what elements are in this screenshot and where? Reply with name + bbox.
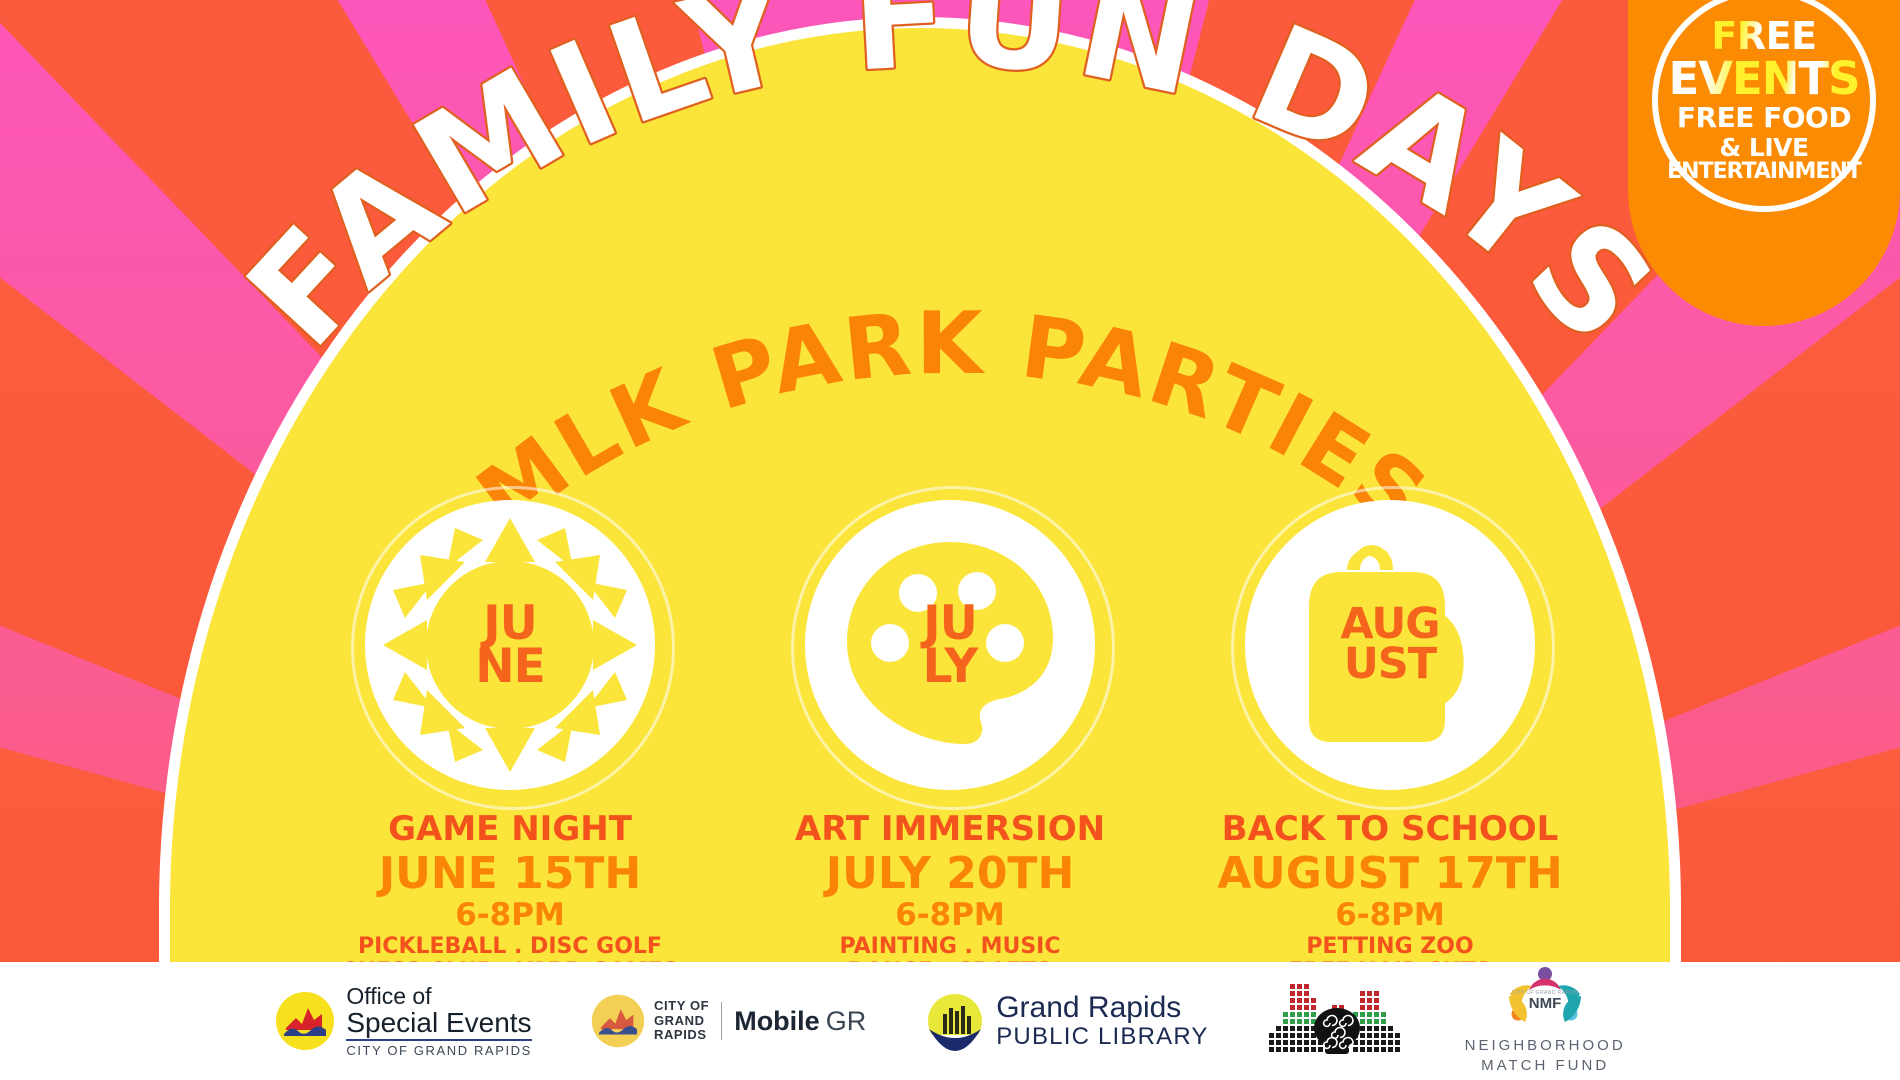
grand-rapids-sun-mark-icon xyxy=(274,990,336,1052)
sponsor-logo-strip: Office of Special Events CITY OF GRAND R… xyxy=(0,962,1900,1080)
logo-office-of-special-events: Office of Special Events CITY OF GRAND R… xyxy=(274,984,532,1058)
june-icon-circle: JU NE xyxy=(365,500,655,790)
cgr-wordmark: CITY OF GRAND RAPIDS xyxy=(654,999,709,1044)
cgr-line3: RAPIDS xyxy=(654,1028,709,1043)
free-events-badge: FREE EVENTS FREE FOOD & LIVE ENTERTAINME… xyxy=(1628,0,1900,326)
logo-grand-rapids-public-library: Grand Rapids PUBLIC LIBRARY xyxy=(924,990,1208,1052)
cgr-line1: CITY OF xyxy=(654,999,709,1014)
pixel-equalizer-afro-icon xyxy=(1267,978,1407,1064)
badge-events-label: EVENTS xyxy=(1668,56,1859,101)
nmf-people-circle-icon: CITY OF GRAND RAPIDS NMF xyxy=(1499,966,1591,1032)
july-event-title: ART IMMERSION xyxy=(795,812,1105,846)
logo-neighborhood-match-fund: CITY OF GRAND RAPIDS NMF NEIGHBORHOOD MA… xyxy=(1465,966,1626,1077)
badge-ring: FREE EVENTS FREE FOOD & LIVE ENTERTAINME… xyxy=(1652,0,1876,212)
ose-line3: CITY OF GRAND RAPIDS xyxy=(346,1043,532,1058)
ose-line2: Special Events xyxy=(346,1008,532,1040)
grpl-line2: PUBLIC LIBRARY xyxy=(996,1024,1208,1050)
nmf-mark: NMF xyxy=(1529,995,1562,1012)
logo-community-pixel-mark xyxy=(1267,978,1407,1064)
august-halo-ring xyxy=(1231,486,1555,810)
august-event-date: AUGUST 17TH xyxy=(1217,852,1562,896)
month-column-june: JU NE GAME NIGHT JUNE 15TH 6-8PM PICKLEB… xyxy=(300,500,720,1034)
badge-free-food-label: FREE FOOD xyxy=(1677,104,1851,132)
month-column-july: JU LY ART IMMERSION JULY 20TH 6-8PM PAIN… xyxy=(740,500,1160,1034)
logo-divider xyxy=(721,1002,722,1040)
june-event-title: GAME NIGHT xyxy=(388,812,632,846)
july-icon-circle: JU LY xyxy=(805,500,1095,790)
june-halo-ring xyxy=(351,486,675,810)
ose-line1: Office of xyxy=(346,984,532,1008)
cgr-line2: GRAND xyxy=(654,1014,709,1029)
mobile-gr-bold: Mobile xyxy=(734,1006,820,1037)
city-of-grand-rapids-mark-icon xyxy=(590,993,646,1049)
june-event-time: 6-8PM xyxy=(455,900,565,931)
month-column-august: AUG UST BACK TO SCHOOL AUGUST 17TH 6-8PM… xyxy=(1180,500,1600,1034)
library-book-mark-icon xyxy=(924,990,986,1052)
month-columns: JU NE GAME NIGHT JUNE 15TH 6-8PM PICKLEB… xyxy=(0,500,1900,1034)
badge-entertainment-label: ENTERTAINMENT xyxy=(1667,161,1861,183)
august-event-title: BACK TO SCHOOL xyxy=(1222,812,1559,846)
nmf-line2: MATCH FUND xyxy=(1465,1056,1626,1076)
july-event-date: JULY 20TH xyxy=(826,852,1075,896)
august-event-time: 6-8PM xyxy=(1335,900,1445,931)
june-event-date: JUNE 15TH xyxy=(379,852,641,896)
badge-live-label: & LIVE xyxy=(1719,135,1808,160)
july-halo-ring xyxy=(791,486,1115,810)
poster-canvas: FAMILY FUN DAYS MLK PARK PARTIES FREE EV… xyxy=(0,0,1900,1080)
august-icon-circle: AUG UST xyxy=(1245,500,1535,790)
logo-mobile-gr: CITY OF GRAND RAPIDS Mobile GR xyxy=(590,993,866,1049)
mobile-gr-light: GR xyxy=(826,1006,867,1037)
badge-free-label: FREE xyxy=(1711,17,1816,55)
july-event-time: 6-8PM xyxy=(895,900,1005,931)
nmf-line1: NEIGHBORHOOD xyxy=(1465,1036,1626,1056)
grpl-line1: Grand Rapids xyxy=(996,992,1208,1024)
